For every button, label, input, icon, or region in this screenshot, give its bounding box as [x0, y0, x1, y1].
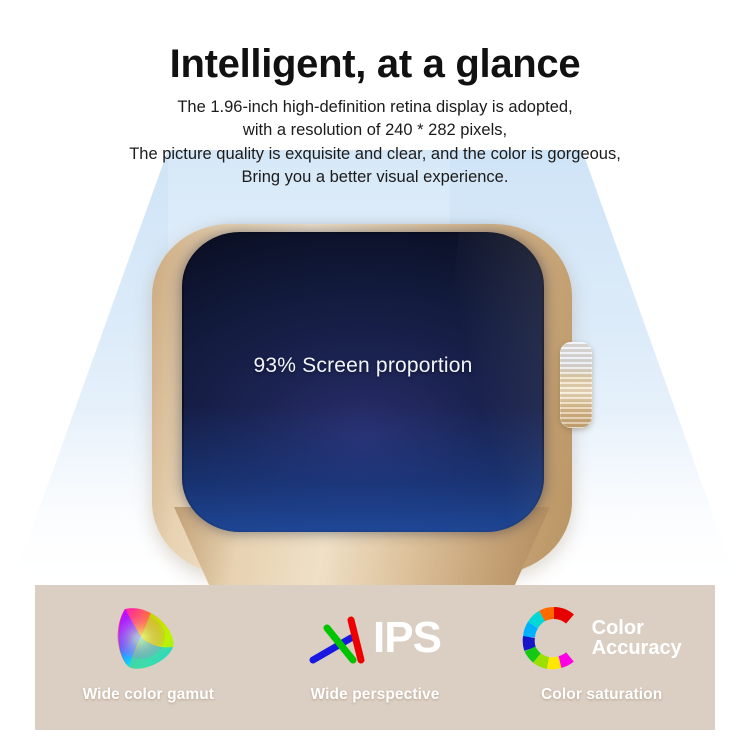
feature-color-saturation: Color Accuracy Color saturation — [488, 585, 715, 730]
description-line-4: Bring you a better visual experience. — [0, 166, 750, 189]
feature-wide-perspective: IPS Wide perspective — [262, 585, 489, 730]
color-wheel-icon: Color Accuracy — [522, 599, 682, 677]
color-accuracy-badge: Color Accuracy — [592, 618, 682, 659]
description-line-3: The picture quality is exquisite and cle… — [0, 143, 750, 166]
color-accuracy-line-2: Accuracy — [592, 637, 682, 659]
screen-proportion-text: 93% Screen proportion — [182, 354, 544, 378]
ips-fan-icon: IPS — [309, 599, 441, 677]
feature-row: Wide color gamut IPS Wide perspective — [35, 585, 715, 730]
watch-display-screen: 93% Screen proportion — [182, 232, 544, 532]
page-title: Intelligent, at a glance — [0, 42, 750, 86]
page-description: The 1.96-inch high-definition retina dis… — [0, 96, 750, 190]
smartwatch-product-image: 93% Screen proportion — [146, 212, 616, 612]
watch-crown-icon[interactable] — [560, 342, 592, 428]
feature-label: Color saturation — [488, 686, 715, 704]
header: Intelligent, at a glance The 1.96-inch h… — [0, 0, 750, 190]
product-feature-page: Intelligent, at a glance The 1.96-inch h… — [0, 0, 750, 750]
color-accuracy-line-1: Color — [592, 617, 644, 639]
description-line-1: The 1.96-inch high-definition retina dis… — [0, 96, 750, 119]
color-gamut-icon — [105, 599, 191, 677]
feature-label: Wide color gamut — [35, 686, 262, 704]
feature-label: Wide perspective — [262, 686, 489, 704]
feature-wide-color-gamut: Wide color gamut — [35, 585, 262, 730]
feature-panel: Wide color gamut IPS Wide perspective — [35, 585, 715, 730]
ips-badge-text: IPS — [373, 616, 441, 660]
description-line-2: with a resolution of 240 * 282 pixels, — [0, 119, 750, 142]
